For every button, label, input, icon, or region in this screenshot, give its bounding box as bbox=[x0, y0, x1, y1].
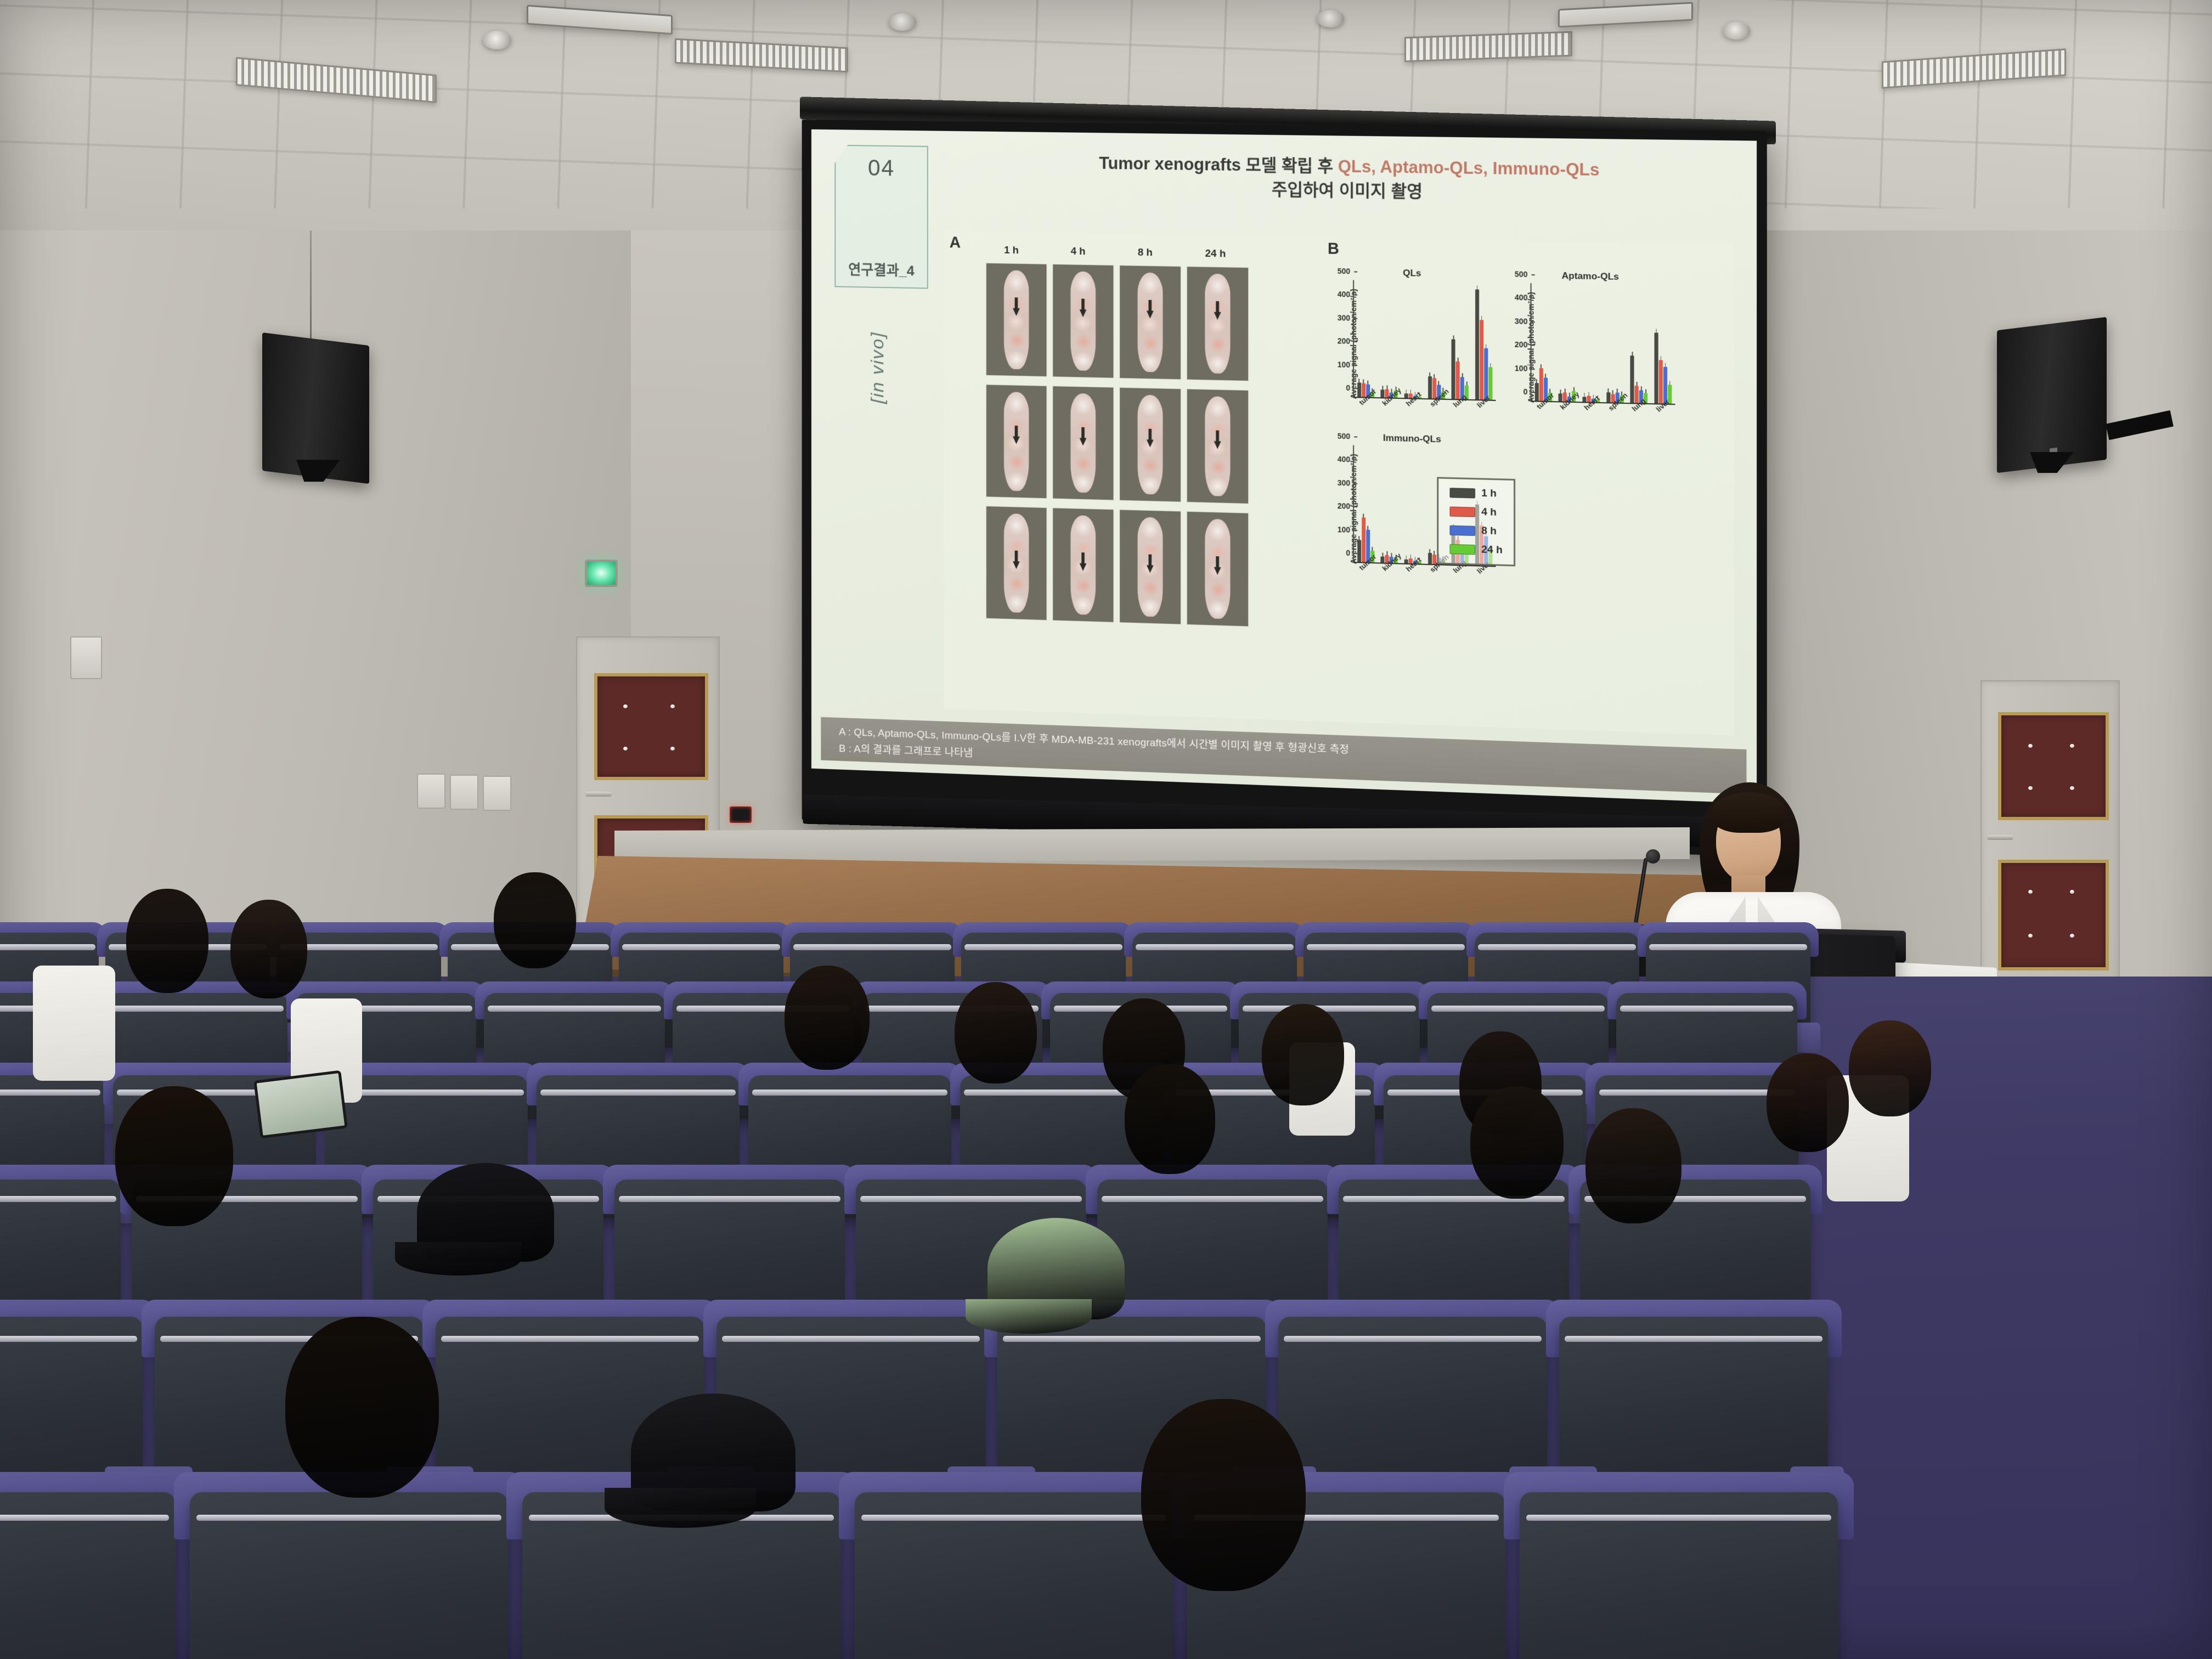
audience-head bbox=[115, 1086, 233, 1226]
section-number: 04 bbox=[868, 155, 895, 181]
mouse-image-grid: 1 h4 h8 h24 hQLsAptamo-QLsImmuno-QLs bbox=[986, 263, 1255, 640]
seat-trim bbox=[861, 1515, 1167, 1521]
bar-group: tumor bbox=[1534, 283, 1552, 401]
audience-head bbox=[1585, 1108, 1681, 1223]
mouse-fluorescence-image bbox=[986, 506, 1047, 620]
audience-head bbox=[1849, 1020, 1931, 1116]
audience-head bbox=[230, 900, 307, 998]
mouse-body bbox=[1070, 272, 1096, 371]
y-axis-tick: 200 bbox=[1338, 336, 1354, 346]
y-axis-tick: 400 bbox=[1338, 290, 1354, 299]
timepoint-column-header: 24 h bbox=[1205, 248, 1226, 261]
bar-group: liver bbox=[1475, 282, 1492, 399]
x-axis-tick: heart bbox=[1404, 556, 1423, 573]
door-lower-panel bbox=[1998, 860, 2109, 970]
bar-24h bbox=[1488, 367, 1492, 400]
slide-section-badge: 04 연구결과_4 bbox=[834, 145, 928, 289]
seat-trim bbox=[441, 1336, 699, 1342]
audience-head bbox=[126, 889, 208, 993]
chart-title: Aptamo-QLs bbox=[1562, 270, 1619, 283]
seat-trim bbox=[488, 1006, 662, 1012]
door-upper-panel bbox=[594, 673, 708, 781]
mouse-fluorescence-image bbox=[1119, 265, 1181, 380]
chart-title: Immuno-QLs bbox=[1383, 433, 1441, 445]
audience-cap-black bbox=[417, 1163, 554, 1262]
panel-b-label: B bbox=[1328, 240, 1339, 258]
bar-group: heart bbox=[1404, 447, 1421, 564]
slide-title-line2: 주입하여 이미지 촬영 bbox=[1272, 180, 1423, 201]
audience-head bbox=[494, 872, 576, 968]
mouse-fluorescence-image bbox=[986, 263, 1047, 377]
presentation-slide: 04 연구결과_4 [in vivo] Tumor xenografts 모델 … bbox=[811, 129, 1757, 804]
bar-1h bbox=[1582, 397, 1586, 402]
section-name: 연구결과_4 bbox=[848, 259, 915, 280]
y-axis-tick: 100 bbox=[1338, 360, 1354, 369]
mouse-fluorescence-image bbox=[1187, 266, 1249, 381]
legend-entry: 24 h bbox=[1449, 543, 1502, 557]
y-axis-tick: 200 bbox=[1515, 340, 1532, 349]
audience-head bbox=[1141, 1399, 1306, 1591]
seat-trim bbox=[1243, 1006, 1417, 1012]
mouse-fluorescence-image bbox=[1187, 388, 1249, 504]
seat-trim bbox=[196, 1515, 502, 1521]
y-axis-tick: 400 bbox=[1338, 455, 1354, 464]
audience-head bbox=[1125, 1064, 1215, 1174]
bar-group: spleen bbox=[1428, 281, 1445, 399]
bar-1h bbox=[1428, 552, 1432, 564]
mouse-fluorescence-image bbox=[1052, 386, 1114, 500]
emergency-exit-sign bbox=[585, 560, 618, 587]
plot-area: 0100200300400500tumorkidneyheartspleenlu… bbox=[1531, 283, 1675, 405]
mouse-body bbox=[1004, 270, 1029, 369]
slide-side-label: [in vivo] bbox=[867, 316, 888, 419]
bar-1h bbox=[1452, 339, 1455, 399]
bar-4h bbox=[1480, 320, 1483, 399]
mouse-fluorescence-image bbox=[1119, 509, 1181, 624]
seat-trim bbox=[0, 1196, 116, 1202]
legend-label: 24 h bbox=[1481, 544, 1503, 556]
seat-trim bbox=[1284, 1336, 1542, 1342]
legend-label: 4 h bbox=[1481, 506, 1497, 519]
bar-4h bbox=[1362, 518, 1365, 562]
bar-1h bbox=[1357, 382, 1361, 397]
seat-trim bbox=[1102, 1196, 1323, 1202]
seat-trim bbox=[1599, 1090, 1794, 1096]
bar-group: lung bbox=[1452, 282, 1469, 399]
bar-4h bbox=[1456, 362, 1460, 399]
seat-trim bbox=[1003, 1336, 1261, 1342]
bar-group: tumor bbox=[1357, 445, 1374, 563]
seat-trim bbox=[793, 944, 951, 950]
mouse-body bbox=[1205, 274, 1231, 374]
bar-1h bbox=[1404, 560, 1408, 563]
y-axis-tick: 100 bbox=[1338, 525, 1354, 534]
bar-group: kidney bbox=[1559, 284, 1576, 402]
bar-group: spleen bbox=[1606, 285, 1624, 403]
seat-trim bbox=[860, 1196, 1081, 1202]
y-axis-tick: 500 bbox=[1338, 267, 1354, 276]
auditorium-seat[interactable] bbox=[1520, 1492, 1838, 1659]
bar-chart-aptamo-qls: Aptamo-QLsAverage signal (photon/cm²/s)0… bbox=[1504, 269, 1678, 428]
bar-group: lung bbox=[1630, 285, 1648, 403]
bar-1h bbox=[1381, 557, 1385, 563]
legend-entry: 1 h bbox=[1449, 487, 1502, 500]
x-axis-tick: heart bbox=[1404, 390, 1423, 408]
seat-trim bbox=[964, 944, 1122, 950]
bar-1h bbox=[1606, 392, 1610, 402]
y-axis-tick: 100 bbox=[1515, 364, 1532, 373]
audience-head bbox=[285, 1317, 439, 1498]
audience-lab-coat bbox=[33, 966, 115, 1081]
audience-head bbox=[955, 982, 1037, 1084]
seat-trim bbox=[619, 1196, 840, 1202]
bar-group: heart bbox=[1582, 284, 1600, 402]
seat-trim bbox=[1620, 1006, 1794, 1012]
bar-1h bbox=[1559, 394, 1562, 402]
y-axis-tick: 400 bbox=[1515, 293, 1532, 302]
mouse-fluorescence-image bbox=[1187, 511, 1249, 627]
legend-color-swatch bbox=[1449, 506, 1475, 517]
slide-figure-area: A B 1 h4 h8 h24 hQLsAptamo-QLsImmuno-QLs… bbox=[944, 232, 1734, 735]
slide-title-prefix: Tumor xenografts 모델 확립 후 bbox=[1099, 154, 1338, 176]
y-axis-tick: 0 bbox=[1523, 387, 1532, 396]
mouse-fluorescence-image bbox=[1052, 507, 1114, 623]
bar-1h bbox=[1534, 383, 1538, 400]
bar-1h bbox=[1654, 332, 1658, 403]
seat-trim bbox=[1307, 944, 1465, 950]
bar-group: liver bbox=[1654, 285, 1672, 404]
wall-switch-plate[interactable] bbox=[450, 775, 478, 810]
y-axis-tick: 300 bbox=[1515, 317, 1532, 326]
bar-group: tumor bbox=[1357, 280, 1374, 397]
projection-screen: 04 연구결과_4 [in vivo] Tumor xenografts 모델 … bbox=[802, 120, 1767, 857]
y-axis-tick: 300 bbox=[1338, 313, 1354, 323]
timepoint-column-header: 8 h bbox=[1138, 247, 1153, 259]
rear-door-right[interactable] bbox=[1980, 680, 2120, 990]
seat-trim bbox=[1136, 944, 1294, 950]
slide-title: Tumor xenografts 모델 확립 후 QLs, Aptamo-QLs… bbox=[971, 150, 1734, 208]
seat-trim bbox=[1649, 944, 1807, 950]
bar-chart-qls: QLsAverage signal (photon/cm²/s)01002003… bbox=[1327, 267, 1498, 425]
y-axis-tick: 500 bbox=[1515, 269, 1532, 279]
bar-4h bbox=[1539, 368, 1543, 401]
auditorium-seat[interactable] bbox=[0, 1492, 176, 1659]
seat-trim bbox=[1478, 944, 1636, 950]
audience-head bbox=[1767, 1053, 1849, 1152]
seat-trim bbox=[1526, 1515, 1832, 1521]
y-axis-tick: 0 bbox=[1346, 383, 1354, 392]
recessed-downlight bbox=[1723, 22, 1750, 39]
power-switch-indicator[interactable] bbox=[730, 806, 752, 823]
wall-switch-plate[interactable] bbox=[417, 774, 445, 809]
seat-trim bbox=[540, 1090, 735, 1096]
recessed-downlight bbox=[1317, 10, 1344, 27]
y-axis-tick: 300 bbox=[1338, 478, 1354, 488]
legend-label: 8 h bbox=[1481, 525, 1497, 538]
recessed-downlight bbox=[889, 13, 916, 31]
seat-trim bbox=[1565, 1336, 1822, 1342]
legend-color-swatch bbox=[1449, 544, 1475, 555]
bar-1h bbox=[1475, 289, 1479, 399]
legend-entry: 8 h bbox=[1449, 524, 1502, 538]
seat-trim bbox=[0, 1515, 169, 1521]
auditorium-seat[interactable] bbox=[855, 1492, 1173, 1659]
bar-4h bbox=[1659, 360, 1663, 404]
door-upper-panel bbox=[1998, 712, 2109, 820]
presenter-hair-front bbox=[1712, 792, 1786, 833]
audience-head bbox=[1262, 1004, 1344, 1105]
wall-baseboard bbox=[614, 827, 1690, 862]
door-handle[interactable] bbox=[585, 792, 612, 797]
legend-color-swatch bbox=[1449, 526, 1475, 536]
auditorium-seat[interactable] bbox=[190, 1492, 508, 1659]
plot-area: 0100200300400500tumorkidneyheartspleenlu… bbox=[1353, 280, 1496, 400]
seat-trim bbox=[622, 944, 780, 950]
wall-speaker-right bbox=[1997, 317, 2107, 473]
seat-trim bbox=[0, 944, 95, 950]
audience-head bbox=[785, 966, 870, 1070]
timepoint-column-header: 1 h bbox=[1004, 245, 1019, 257]
seat-trim bbox=[0, 1090, 100, 1096]
chart-title: QLs bbox=[1403, 268, 1421, 279]
wall-switch-plate[interactable] bbox=[70, 636, 102, 679]
legend-entry: 4 h bbox=[1449, 505, 1502, 519]
lecture-hall-photo: 04 연구결과_4 [in vivo] Tumor xenografts 모델 … bbox=[0, 0, 2212, 1659]
seat-trim bbox=[752, 1090, 947, 1096]
mouse-fluorescence-image bbox=[986, 384, 1047, 499]
seat-trim bbox=[1431, 1006, 1605, 1012]
bar-group: heart bbox=[1404, 281, 1421, 398]
panel-a-label: A bbox=[950, 234, 961, 252]
bar-1h bbox=[1428, 376, 1432, 399]
audience-head bbox=[1470, 1086, 1564, 1199]
bar-1h bbox=[1357, 540, 1361, 562]
seat-trim bbox=[110, 1006, 284, 1012]
bar-8h bbox=[1484, 348, 1488, 399]
bar-1h bbox=[1381, 390, 1385, 398]
y-axis-tick: 500 bbox=[1338, 432, 1354, 441]
mouse-fluorescence-image bbox=[1052, 264, 1114, 379]
speaker-suspension-wire bbox=[310, 230, 312, 340]
wall-switch-plate[interactable] bbox=[483, 776, 511, 811]
seat-trim bbox=[0, 1336, 137, 1342]
mouse-fluorescence-image bbox=[1119, 387, 1181, 503]
bar-1h bbox=[1630, 356, 1634, 403]
slide-title-highlight: QLs, Aptamo-QLs, Immuno-QLs bbox=[1338, 156, 1600, 179]
door-handle[interactable] bbox=[1987, 835, 2013, 840]
timepoint-column-header: 4 h bbox=[1071, 246, 1086, 258]
audience-cap-black bbox=[631, 1393, 795, 1511]
bar-1h bbox=[1404, 394, 1408, 398]
bar-group: kidney bbox=[1381, 280, 1398, 398]
seat-trim bbox=[722, 1336, 980, 1342]
mouse-body bbox=[1137, 273, 1163, 372]
y-axis-tick: 200 bbox=[1338, 501, 1354, 511]
attendee-tablet[interactable] bbox=[253, 1070, 348, 1139]
legend-color-swatch bbox=[1449, 488, 1475, 498]
y-axis-tick: 0 bbox=[1346, 549, 1354, 557]
recessed-downlight bbox=[483, 31, 511, 49]
bar-group: kidney bbox=[1381, 446, 1398, 563]
chart-legend: 1 h4 h8 h24 h bbox=[1437, 477, 1515, 566]
legend-label: 1 h bbox=[1481, 488, 1497, 500]
audience-cap-green bbox=[988, 1218, 1125, 1319]
